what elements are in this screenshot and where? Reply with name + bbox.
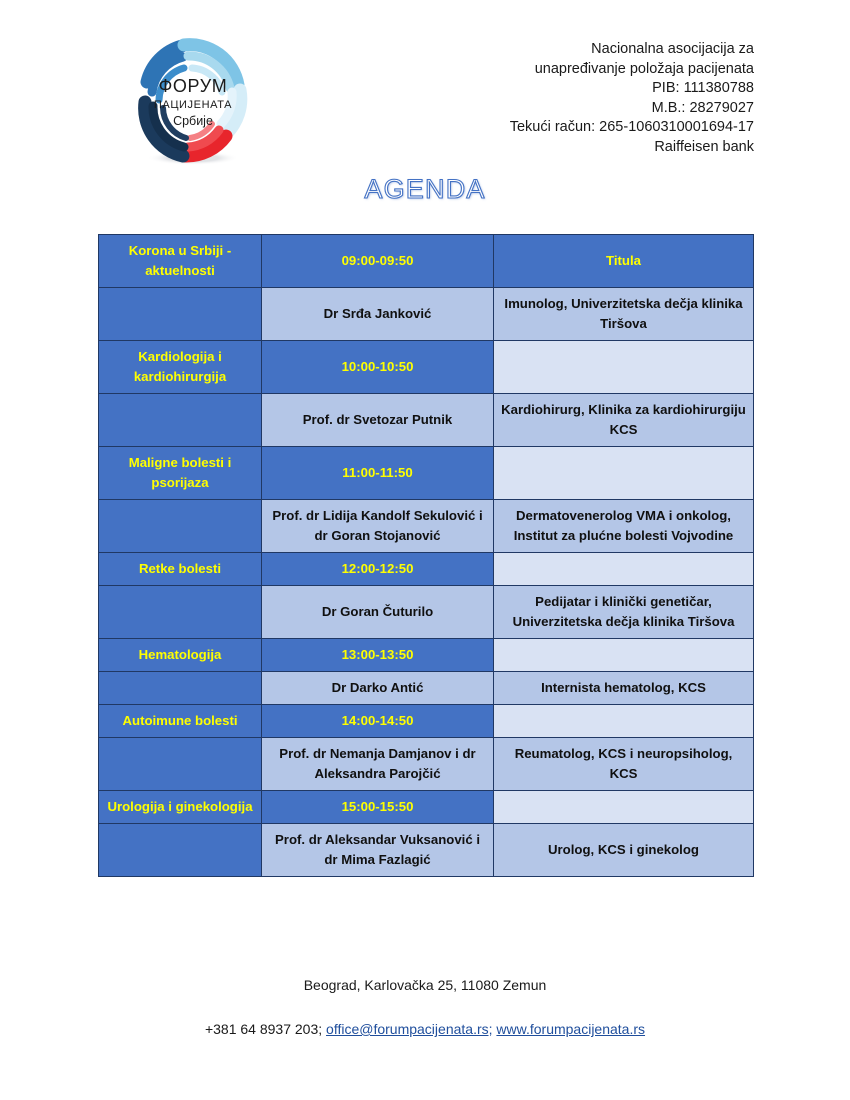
agenda-time-cell: 12:00-12:50 [262,553,494,586]
agenda-time-cell: Prof. dr Nemanja Damjanov i dr Aleksandr… [262,738,494,791]
agenda-topic-cell [99,586,262,639]
footer-website-link[interactable]: www.forumpacijenata.rs [496,1021,645,1037]
agenda-title-cell [494,553,754,586]
agenda-time-cell: 11:00-11:50 [262,447,494,500]
agenda-title-cell: Internista hematolog, KCS [494,672,754,705]
agenda-detail-row: Dr Goran ČuturiloPedijatar i klinički ge… [99,586,754,639]
agenda-time-cell: Dr Goran Čuturilo [262,586,494,639]
org-line-1: Nacionalna asocijacija za [510,40,754,60]
logo-text-srbije: Србије [173,114,213,128]
agenda-topic-cell: Kardiologija i kardiohirurgija [99,341,262,394]
agenda-time-cell: 13:00-13:50 [262,639,494,672]
agenda-section-row: Hematologija13:00-13:50 [99,639,754,672]
agenda-section-row: Kardiologija i kardiohirurgija10:00-10:5… [99,341,754,394]
agenda-topic-cell: Hematologija [99,639,262,672]
agenda-time-cell: Dr Darko Antić [262,672,494,705]
agenda-title-cell: Pedijatar i klinički genetičar, Univerzi… [494,586,754,639]
agenda-topic-cell [99,394,262,447]
agenda-detail-row: Prof. dr Svetozar PutnikKardiohirurg, Kl… [99,394,754,447]
agenda-time-cell: Dr Srđa Janković [262,288,494,341]
footer-address: Beograd, Karlovačka 25, 11080 Zemun [0,975,850,995]
agenda-topic-cell [99,824,262,877]
agenda-topic-cell [99,672,262,705]
document-header: ФОРУМ ПАЦИЈЕНАТА Србије Nacionalna asoci… [0,22,850,172]
agenda-topic-cell [99,500,262,553]
agenda-title-cell: Urolog, KCS i ginekolog [494,824,754,877]
agenda-topic-cell: Maligne bolesti i psorijaza [99,447,262,500]
org-line-2: unapređivanje položaja pacijenata [510,60,754,80]
agenda-topic-cell: Retke bolesti [99,553,262,586]
agenda-title-cell [494,447,754,500]
agenda-time-cell: 14:00-14:50 [262,705,494,738]
organization-logo: ФОРУМ ПАЦИЈЕНАТА Србије [122,30,264,172]
agenda-section-row: Autoimune bolesti14:00-14:50 [99,705,754,738]
agenda-detail-row: Prof. dr Aleksandar Vuksanović i dr Mima… [99,824,754,877]
org-pib: PIB: 111380788 [510,79,754,99]
footer-phone: +381 64 8937 203; [205,1021,322,1037]
org-bank: Raiffeisen bank [510,138,754,158]
agenda-time-cell: 09:00-09:50 [262,235,494,288]
forum-pacijenata-srbije-logo-icon: ФОРУМ ПАЦИЈЕНАТА Србије [122,30,264,172]
agenda-table-container: Korona u Srbiji - aktuelnosti09:00-09:50… [98,234,753,877]
logo-text-pacijenata: ПАЦИЈЕНАТА [154,99,232,111]
org-mb: M.B.: 28279027 [510,99,754,119]
agenda-title-cell: Kardiohirurg, Klinika za kardiohirurgiju… [494,394,754,447]
logo-text-forum: ФОРУМ [159,76,228,96]
agenda-section-row: Retke bolesti12:00-12:50 [99,553,754,586]
agenda-title-cell [494,705,754,738]
agenda-table: Korona u Srbiji - aktuelnosti09:00-09:50… [98,234,754,877]
agenda-section-row: Korona u Srbiji - aktuelnosti09:00-09:50… [99,235,754,288]
agenda-topic-cell: Urologija i ginekologija [99,791,262,824]
agenda-detail-row: Prof. dr Lidija Kandolf Sekulović i dr G… [99,500,754,553]
agenda-section-row: Maligne bolesti i psorijaza11:00-11:50 [99,447,754,500]
page-title: AGENDA [0,174,850,205]
agenda-title-cell [494,791,754,824]
agenda-title-cell: Reumatolog, KCS i neuropsiholog, KCS [494,738,754,791]
agenda-detail-row: Dr Srđa JankovićImunolog, Univerzitetska… [99,288,754,341]
agenda-time-cell: Prof. dr Aleksandar Vuksanović i dr Mima… [262,824,494,877]
agenda-title-cell [494,341,754,394]
agenda-time-cell: Prof. dr Svetozar Putnik [262,394,494,447]
agenda-time-cell: Prof. dr Lidija Kandolf Sekulović i dr G… [262,500,494,553]
org-account: Tekući račun: 265-1060310001694-17 [510,118,754,138]
footer-contact: +381 64 8937 203; office@forumpacijenata… [0,1019,850,1039]
agenda-section-row: Urologija i ginekologija15:00-15:50 [99,791,754,824]
agenda-detail-row: Prof. dr Nemanja Damjanov i dr Aleksandr… [99,738,754,791]
footer-email-link[interactable]: office@forumpacijenata.rs; [326,1021,492,1037]
agenda-detail-row: Dr Darko AntićInternista hematolog, KCS [99,672,754,705]
agenda-topic-cell: Korona u Srbiji - aktuelnosti [99,235,262,288]
organization-details: Nacionalna asocijacija za unapređivanje … [510,40,754,157]
agenda-time-cell: 10:00-10:50 [262,341,494,394]
document-footer: Beograd, Karlovačka 25, 11080 Zemun +381… [0,975,850,1039]
agenda-title-cell: Imunolog, Univerzitetska dečja klinika T… [494,288,754,341]
agenda-title-cell: Dermatovenerolog VMA i onkolog, Institut… [494,500,754,553]
agenda-topic-cell [99,738,262,791]
agenda-title-cell [494,639,754,672]
agenda-title-cell: Titula [494,235,754,288]
agenda-topic-cell: Autoimune bolesti [99,705,262,738]
agenda-time-cell: 15:00-15:50 [262,791,494,824]
agenda-topic-cell [99,288,262,341]
